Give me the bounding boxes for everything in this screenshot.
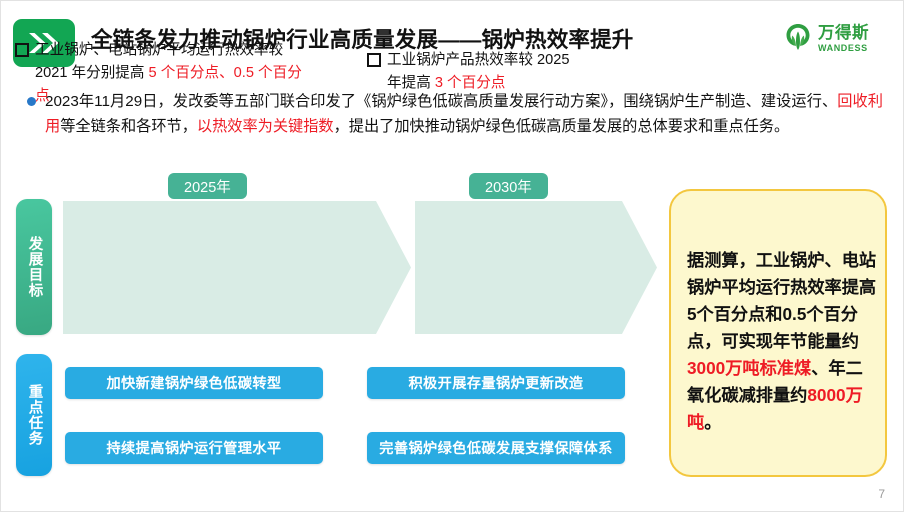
brand-name-cn: 万得斯 (818, 25, 869, 42)
task-pill-4[interactable]: 完善锅炉绿色低碳发展支撑保障体系 (367, 432, 625, 464)
goal-text-2030: 工业锅炉产品热效率较 2025 年提高 3 个百分点 (387, 49, 577, 95)
task-pill-3[interactable]: 持续提高锅炉运行管理水平 (65, 432, 323, 464)
savings-callout-text: 据测算，工业锅炉、电站锅炉平均运行热效率提高5个百分点和0.5个百分点，可实现年… (687, 247, 877, 436)
wandess-leaf-logo-icon (783, 22, 813, 57)
year-badge-2030: 2030年 (469, 173, 548, 199)
page-number: 7 (878, 487, 885, 501)
checkbox-square-icon (15, 43, 29, 57)
checkbox-square-icon (367, 53, 381, 67)
goal-item-2030: 工业锅炉产品热效率较 2025 年提高 3 个百分点 (367, 49, 577, 95)
goals-chevron-banner (63, 201, 657, 334)
brand-logo: 万得斯 WANDESS (783, 15, 891, 63)
rail-key-tasks: 重点任务 (16, 354, 52, 476)
goal-item-2025: 工业锅炉、电站锅炉平均运行热效率较 2021 年分别提高 5 个百分点、0.5 … (15, 39, 315, 108)
goal-chevron-2025 (63, 201, 411, 334)
task-pill-2[interactable]: 积极开展存量锅炉更新改造 (367, 367, 625, 399)
rail-label-key-tasks: 重点任务 (25, 384, 44, 446)
goal-text-2025: 工业锅炉、电站锅炉平均运行热效率较 2021 年分别提高 5 个百分点、0.5 … (35, 39, 315, 108)
brand-name-en: WANDESS (818, 44, 869, 53)
year-badge-2025: 2025年 (168, 173, 247, 199)
task-pill-1[interactable]: 加快新建锅炉绿色低碳转型 (65, 367, 323, 399)
savings-callout-box: 据测算，工业锅炉、电站锅炉平均运行热效率提高5个百分点和0.5个百分点，可实现年… (669, 189, 887, 477)
brand-wordmark: 万得斯 WANDESS (818, 25, 869, 54)
rail-development-goals: 发展目标 (16, 199, 52, 335)
slide-canvas: 全链条发力推动锅炉行业高质量发展——锅炉热效率提升 万得斯 WANDESS 20… (0, 0, 904, 512)
goal-chevron-2030 (415, 201, 657, 334)
rail-label-development-goals: 发展目标 (25, 236, 44, 298)
